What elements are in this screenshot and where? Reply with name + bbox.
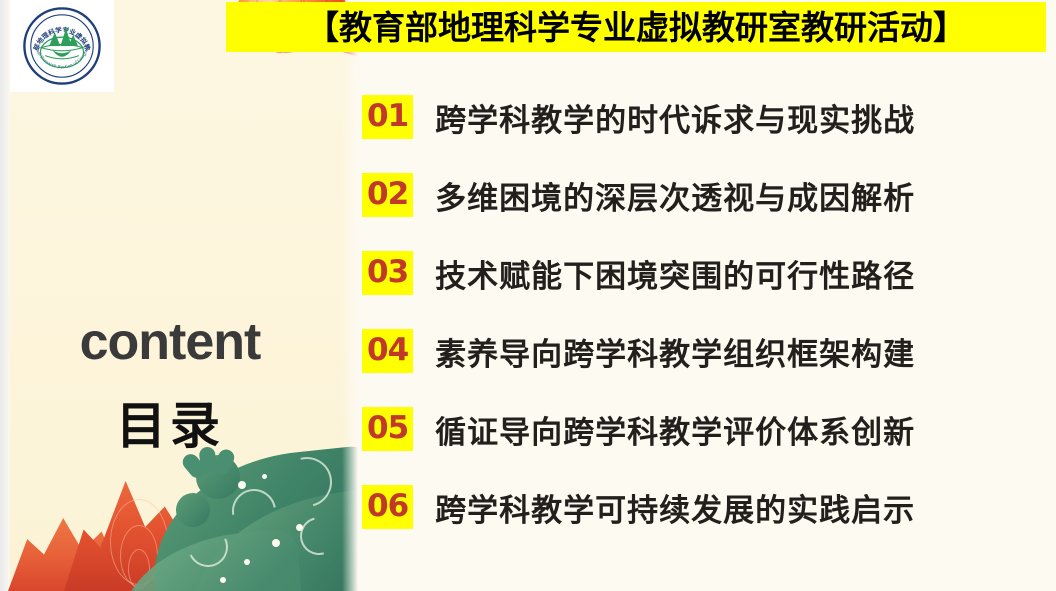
agenda-item-label: 多维困境的深层次透视与成因解析	[435, 173, 915, 218]
agenda-item-label: 跨学科教学可持续发展的实践启示	[435, 485, 915, 530]
presentation-slide: 教育部地理科学专业虚拟教研室 Virtual Research Section …	[0, 0, 1056, 591]
agenda-item-label: 素养导向跨学科教学组织框架构建	[435, 329, 915, 374]
agenda-number-badge: 02	[362, 173, 413, 217]
wave-bubble	[244, 559, 250, 565]
slide-title-banner: 【教育部地理科学专业虚拟教研室教研活动】	[226, 2, 1046, 52]
agenda-item-01[interactable]: 01 跨学科教学的时代诉求与现实挑战	[362, 94, 1022, 140]
agenda-item-label: 跨学科教学的时代诉求与现实挑战	[435, 95, 915, 140]
agenda-number-badge: 01	[362, 95, 413, 139]
agenda-item-03[interactable]: 03 技术赋能下困境突围的可行性路径	[362, 250, 1022, 296]
agenda-list: 01 跨学科教学的时代诉求与现实挑战 02 多维困境的深层次透视与成因解析 03…	[362, 94, 1022, 530]
wave-bubble	[272, 539, 280, 547]
wave-bubble	[238, 481, 246, 489]
wave-bubble	[262, 474, 267, 479]
bottom-decoration	[0, 401, 358, 591]
agenda-item-label: 技术赋能下困境突围的可行性路径	[435, 251, 915, 296]
agenda-number-badge: 04	[362, 329, 413, 373]
page-title: 【教育部地理科学专业虚拟教研室教研活动】	[306, 11, 966, 44]
emblem-icon: 教育部地理科学专业虚拟教研室 Virtual Research Section …	[22, 6, 102, 86]
agenda-item-02[interactable]: 02 多维困境的深层次透视与成因解析	[362, 172, 1022, 218]
content-heading-english: content	[0, 312, 340, 372]
wave-crest-icon	[176, 493, 210, 527]
agenda-item-05[interactable]: 05 循证导向跨学科教学评价体系创新	[362, 406, 1022, 452]
wave-bubble	[220, 577, 226, 583]
agenda-number-badge: 06	[362, 485, 413, 529]
organization-logo: 教育部地理科学专业虚拟教研室 Virtual Research Section …	[10, 0, 114, 92]
agenda-number-badge: 03	[362, 251, 413, 295]
agenda-number-badge: 05	[362, 407, 413, 451]
left-decorative-panel: 教育部地理科学专业虚拟教研室 Virtual Research Section …	[0, 0, 358, 591]
agenda-item-04[interactable]: 04 素养导向跨学科教学组织框架构建	[362, 328, 1022, 374]
panel-edge-fade	[342, 0, 358, 591]
wave-bubble	[296, 524, 303, 531]
agenda-item-06[interactable]: 06 跨学科教学可持续发展的实践启示	[362, 484, 1022, 530]
agenda-item-label: 循证导向跨学科教学评价体系创新	[435, 407, 915, 452]
